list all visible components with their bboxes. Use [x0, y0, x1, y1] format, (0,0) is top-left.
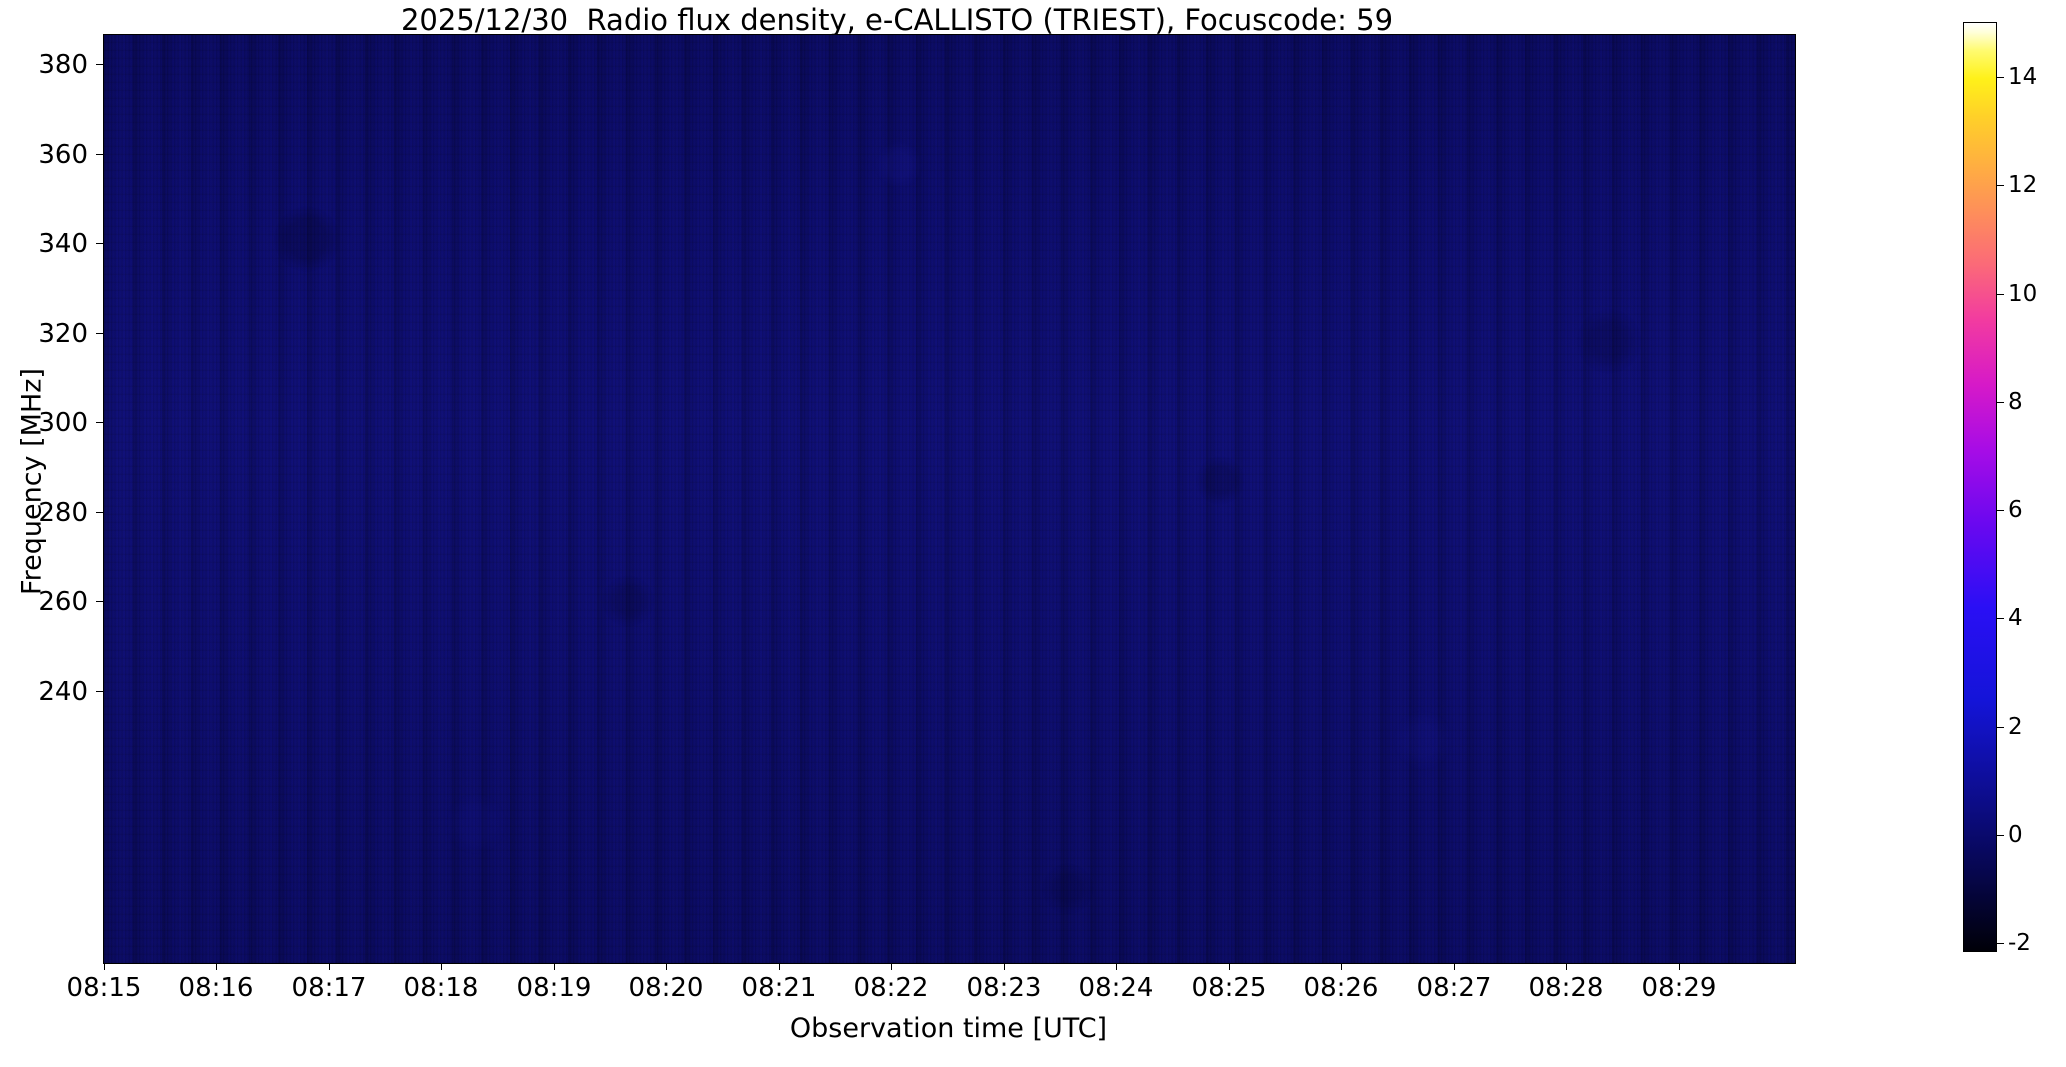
x-tick-mark — [554, 963, 555, 970]
x-tick-mark — [891, 963, 892, 970]
x-tick-mark — [1454, 963, 1455, 970]
y-tick-mark — [96, 154, 103, 155]
y-tick-label: 340 — [26, 229, 88, 259]
spectrogram-figure: 2025/12/30 Radio flux density, e-CALLIST… — [0, 0, 2066, 1067]
y-tick-mark — [96, 243, 103, 244]
x-tick-mark — [329, 963, 330, 970]
x-tick-mark — [441, 963, 442, 970]
colorbar-tick-mark — [1997, 618, 2004, 619]
y-tick-mark — [96, 64, 103, 65]
x-tick-label: 08:27 — [1394, 973, 1514, 1003]
x-tick-label: 08:29 — [1619, 973, 1739, 1003]
x-axis-label: Observation time [UTC] — [103, 1013, 1794, 1044]
x-tick-mark — [1004, 963, 1005, 970]
chart-title: 2025/12/30 Radio flux density, e-CALLIST… — [0, 3, 1794, 37]
y-tick-label: 360 — [26, 140, 88, 170]
x-tick-mark — [779, 963, 780, 970]
colorbar-tick-label: -2 — [2008, 930, 2031, 956]
colorbar: -2 0 2 4 6 8 10 12 14 — [1963, 22, 1997, 952]
x-tick-mark — [1679, 963, 1680, 970]
x-tick-mark — [104, 963, 105, 970]
y-tick-mark — [96, 691, 103, 692]
colorbar-tick-mark — [1997, 77, 2004, 78]
y-axis-label: Frequency [MHz] — [17, 302, 48, 662]
colorbar-tick-label: 12 — [2008, 172, 2037, 198]
x-tick-label: 08:15 — [44, 973, 164, 1003]
y-tick-label: 380 — [26, 50, 88, 80]
colorbar-tick-mark — [1997, 943, 2004, 944]
colorbar-tick-mark — [1997, 402, 2004, 403]
x-tick-label: 08:24 — [1056, 973, 1176, 1003]
x-tick-label: 08:21 — [719, 973, 839, 1003]
colorbar-tick-label: 4 — [2008, 605, 2023, 631]
colorbar-tick-mark — [1997, 727, 2004, 728]
x-tick-mark — [1116, 963, 1117, 970]
x-tick-label: 08:20 — [606, 973, 726, 1003]
colorbar-tick-mark — [1997, 510, 2004, 511]
colorbar-tick-label: 0 — [2008, 822, 2023, 848]
x-tick-label: 08:22 — [831, 973, 951, 1003]
x-tick-label: 08:28 — [1506, 973, 1626, 1003]
colorbar-tick-mark — [1997, 185, 2004, 186]
colorbar-tick-mark — [1997, 294, 2004, 295]
colorbar-tick-mark — [1997, 835, 2004, 836]
spectrogram-image — [104, 35, 1795, 963]
x-tick-label: 08:19 — [494, 973, 614, 1003]
x-tick-mark — [1566, 963, 1567, 970]
x-tick-mark — [1341, 963, 1342, 970]
x-tick-mark — [216, 963, 217, 970]
colorbar-gradient — [1963, 22, 1997, 952]
x-tick-label: 08:18 — [381, 973, 501, 1003]
y-tick-mark — [96, 333, 103, 334]
colorbar-tick-label: 8 — [2008, 389, 2023, 415]
x-tick-label: 08:16 — [156, 973, 276, 1003]
y-tick-mark — [96, 512, 103, 513]
spectrogram-axes — [103, 34, 1796, 964]
x-tick-label: 08:23 — [944, 973, 1064, 1003]
x-tick-label: 08:25 — [1169, 973, 1289, 1003]
x-tick-label: 08:26 — [1281, 973, 1401, 1003]
y-tick-mark — [96, 601, 103, 602]
colorbar-tick-label: 6 — [2008, 497, 2023, 523]
x-tick-mark — [1229, 963, 1230, 970]
colorbar-tick-label: 2 — [2008, 714, 2023, 740]
y-tick-mark — [96, 422, 103, 423]
colorbar-tick-label: 10 — [2008, 281, 2037, 307]
x-tick-mark — [666, 963, 667, 970]
colorbar-tick-label: 14 — [2008, 64, 2037, 90]
y-tick-label: 240 — [26, 677, 88, 707]
x-tick-label: 08:17 — [269, 973, 389, 1003]
spectrogram-mottle-layer — [104, 35, 1795, 963]
